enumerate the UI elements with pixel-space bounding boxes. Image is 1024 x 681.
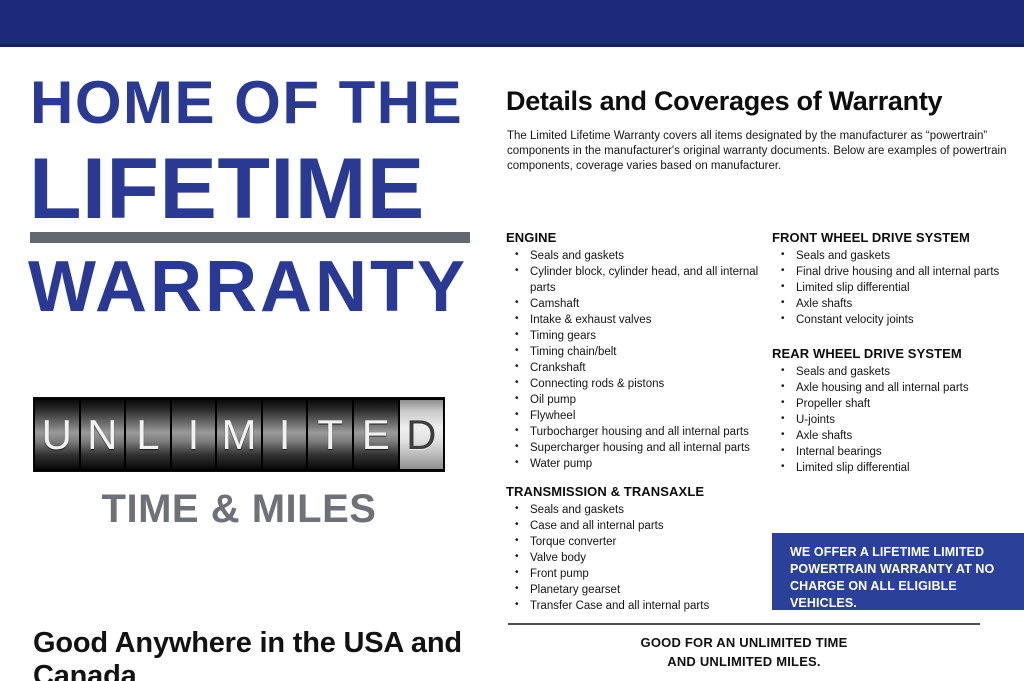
transmission-list: Seals and gaskets Case and all internal … <box>506 502 761 614</box>
list-item: Axle shafts <box>772 428 1022 444</box>
offer-callout-box: WE OFFER A LIFETIME LIMITED POWERTRAIN W… <box>772 533 1024 610</box>
section-heading-front-wheel-drive: FRONT WHEEL DRIVE SYSTEM <box>772 230 1022 245</box>
list-item: Seals and gaskets <box>506 502 761 518</box>
callout-line-2: POWERTRAIN WARRANTY AT NO <box>790 561 1010 578</box>
hero-line-1: HOME OF THE <box>30 73 463 133</box>
list-item: Constant velocity joints <box>772 312 1022 328</box>
odometer-cell: N <box>81 400 125 469</box>
engine-list: Seals and gaskets Cylinder block, cylind… <box>506 248 761 472</box>
section-front-wheel-drive: FRONT WHEEL DRIVE SYSTEM Seals and gaske… <box>772 230 1022 328</box>
callout-line-3: CHARGE ON ALL ELIGIBLE VEHICLES. <box>790 578 1010 612</box>
top-blue-band <box>0 0 1024 44</box>
list-item: Camshaft <box>506 296 761 312</box>
details-title: Details and Coverages of Warranty <box>506 86 942 117</box>
odometer-digit: N <box>87 414 117 456</box>
hero-line-3: WARRANTY <box>28 251 468 323</box>
footer-note-line-2: AND UNLIMITED MILES. <box>508 652 980 671</box>
rear-wheel-drive-list: Seals and gaskets Axle housing and all i… <box>772 364 1022 476</box>
list-item: Propeller shaft <box>772 396 1022 412</box>
coverage-column-left: ENGINE Seals and gaskets Cylinder block,… <box>506 230 761 614</box>
list-item: Internal bearings <box>772 444 1022 460</box>
coverage-tagline: Good Anywhere in the USA and Canada <box>33 627 500 681</box>
list-item: Turbocharger housing and all internal pa… <box>506 424 761 440</box>
odometer-cell: E <box>354 400 398 469</box>
odometer-digit: I <box>188 414 200 456</box>
odometer-digit: I <box>279 414 291 456</box>
odometer-cell: U <box>35 400 79 469</box>
list-item: Water pump <box>506 456 761 472</box>
left-panel: HOME OF THE LIFETIME WARRANTY U N L I M … <box>0 47 500 681</box>
odometer-cell: I <box>172 400 216 469</box>
list-item: Planetary gearset <box>506 582 761 598</box>
list-item: Transfer Case and all internal parts <box>506 598 761 614</box>
footer-note-line-1: GOOD FOR AN UNLIMITED TIME <box>508 633 980 652</box>
section-transmission: TRANSMISSION & TRANSAXLE Seals and gaske… <box>506 484 761 614</box>
list-item: Axle housing and all internal parts <box>772 380 1022 396</box>
odometer-cell: L <box>126 400 170 469</box>
odometer-cell: I <box>263 400 307 469</box>
callout-line-1: WE OFFER A LIFETIME LIMITED <box>790 544 1010 561</box>
section-engine: ENGINE Seals and gaskets Cylinder block,… <box>506 230 761 472</box>
details-body-text: The Limited Lifetime Warranty covers all… <box>507 129 1011 174</box>
section-heading-rear-wheel-drive: REAR WHEEL DRIVE SYSTEM <box>772 346 1022 361</box>
list-item: Valve body <box>506 550 761 566</box>
list-item: U-joints <box>772 412 1022 428</box>
list-item: Intake & exhaust valves <box>506 312 761 328</box>
footer-note: GOOD FOR AN UNLIMITED TIME AND UNLIMITED… <box>508 633 980 671</box>
odometer-digit: E <box>362 414 390 456</box>
odometer-digit: D <box>406 414 436 456</box>
list-item: Timing chain/belt <box>506 344 761 360</box>
list-item: Supercharger housing and all internal pa… <box>506 440 761 456</box>
list-item: Front pump <box>506 566 761 582</box>
section-heading-engine: ENGINE <box>506 230 761 245</box>
list-item: Seals and gaskets <box>772 364 1022 380</box>
list-item: Axle shafts <box>772 296 1022 312</box>
list-item: Cylinder block, cylinder head, and all i… <box>506 264 761 296</box>
list-item: Timing gears <box>506 328 761 344</box>
odometer-cell: M <box>217 400 261 469</box>
section-rear-wheel-drive: REAR WHEEL DRIVE SYSTEM Seals and gasket… <box>772 346 1022 476</box>
list-item: Seals and gaskets <box>772 248 1022 264</box>
list-item: Torque converter <box>506 534 761 550</box>
odometer-graphic: U N L I M I T E D <box>33 397 445 472</box>
list-item: Final drive housing and all internal par… <box>772 264 1022 280</box>
footer-divider <box>508 623 980 625</box>
odometer-cell-rolling: D <box>400 400 444 469</box>
warranty-flyer-page: HOME OF THE LIFETIME WARRANTY U N L I M … <box>0 0 1024 681</box>
odometer-caption: TIME & MILES <box>0 487 478 532</box>
list-item: Crankshaft <box>506 360 761 376</box>
list-item: Limited slip differential <box>772 460 1022 476</box>
list-item: Limited slip differential <box>772 280 1022 296</box>
list-item: Oil pump <box>506 392 761 408</box>
list-item: Seals and gaskets <box>506 248 761 264</box>
list-item: Case and all internal parts <box>506 518 761 534</box>
section-heading-transmission: TRANSMISSION & TRANSAXLE <box>506 484 761 499</box>
odometer-digit: L <box>136 414 159 456</box>
odometer-digit: U <box>42 414 72 456</box>
odometer-digit: M <box>222 414 257 456</box>
list-item: Connecting rods & pistons <box>506 376 761 392</box>
front-wheel-drive-list: Seals and gaskets Final drive housing an… <box>772 248 1022 328</box>
hero-divider-bar <box>30 232 470 243</box>
odometer-digit: T <box>317 414 343 456</box>
hero-line-2: LIFETIME <box>29 146 425 232</box>
odometer-cell: T <box>308 400 352 469</box>
coverage-column-right: FRONT WHEEL DRIVE SYSTEM Seals and gaske… <box>772 230 1022 476</box>
list-item: Flywheel <box>506 408 761 424</box>
